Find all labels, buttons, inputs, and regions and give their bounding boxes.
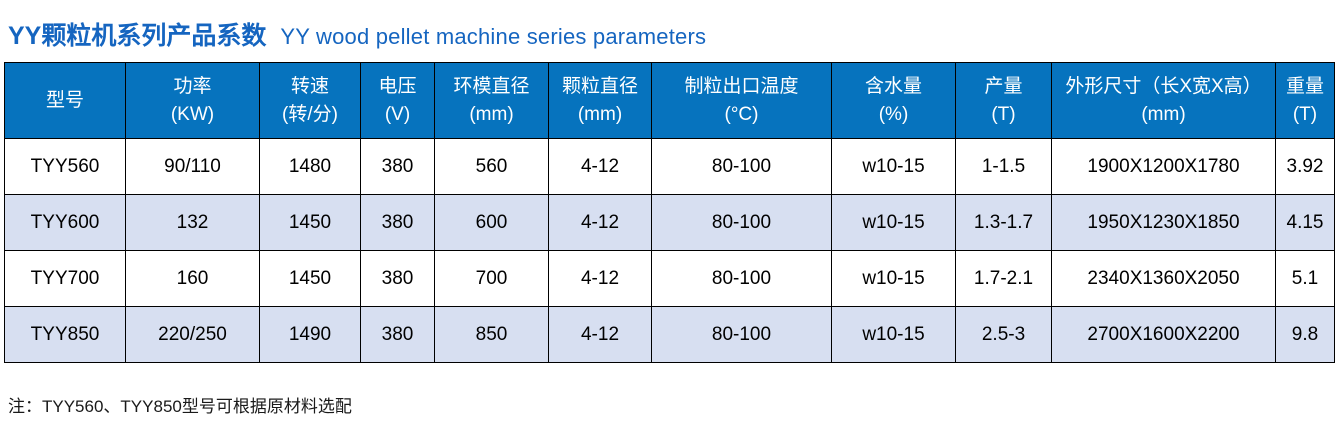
cell-weight: 9.8 — [1276, 307, 1335, 363]
cell-moisture: w10-15 — [832, 307, 956, 363]
cell-ring-die-diameter: 850 — [435, 307, 549, 363]
cell-pellet-diameter: 4-12 — [549, 195, 652, 251]
cell-outlet-temperature: 80-100 — [652, 307, 832, 363]
cell-capacity: 1.3-1.7 — [956, 195, 1052, 251]
cell-outlet-temperature: 80-100 — [652, 195, 832, 251]
column-header-outlet-temperature: 制粒出口温度 (°C) — [652, 63, 832, 139]
cell-capacity: 1-1.5 — [956, 139, 1052, 195]
column-header-voltage-label: 电压 — [363, 73, 432, 101]
cell-dimensions: 2700X1600X2200 — [1052, 307, 1276, 363]
cell-pellet-diameter: 4-12 — [549, 307, 652, 363]
column-header-moisture: 含水量 (%) — [832, 63, 956, 139]
cell-capacity: 2.5-3 — [956, 307, 1052, 363]
column-header-outlet-temperature-unit: (°C) — [654, 101, 829, 129]
column-header-weight-unit: (T) — [1278, 101, 1332, 129]
column-header-ring-die-diameter: 环模直径 (mm) — [435, 63, 549, 139]
cell-power: 132 — [126, 195, 260, 251]
table-row: TYY700 160 1450 380 700 4-12 80-100 w10-… — [5, 251, 1335, 307]
cell-model: TYY700 — [5, 251, 126, 307]
cell-weight: 4.15 — [1276, 195, 1335, 251]
column-header-dimensions: 外形尺寸（长X宽X高） (mm) — [1052, 63, 1276, 139]
cell-power: 160 — [126, 251, 260, 307]
specifications-table: 型号 功率 (KW) 转速 (转/分) 电压 (V) 环 — [4, 62, 1335, 363]
cell-moisture: w10-15 — [832, 139, 956, 195]
column-header-dimensions-label: 外形尺寸（长X宽X高） — [1054, 73, 1273, 101]
column-header-model-label: 型号 — [7, 87, 123, 115]
cell-voltage: 380 — [361, 251, 435, 307]
table-row: TYY850 220/250 1490 380 850 4-12 80-100 … — [5, 307, 1335, 363]
column-header-capacity-unit: (T) — [958, 101, 1049, 129]
cell-power: 220/250 — [126, 307, 260, 363]
cell-model: TYY560 — [5, 139, 126, 195]
cell-ring-die-diameter: 600 — [435, 195, 549, 251]
cell-moisture: w10-15 — [832, 195, 956, 251]
column-header-ring-die-diameter-label: 环模直径 — [437, 73, 546, 101]
page-title-english: YY wood pellet machine series parameters — [280, 24, 706, 50]
column-header-weight: 重量 (T) — [1276, 63, 1335, 139]
cell-ring-die-diameter: 700 — [435, 251, 549, 307]
column-header-speed: 转速 (转/分) — [260, 63, 361, 139]
column-header-capacity-label: 产量 — [958, 73, 1049, 101]
column-header-dimensions-unit: (mm) — [1054, 101, 1273, 129]
column-header-voltage: 电压 (V) — [361, 63, 435, 139]
column-header-pellet-diameter: 颗粒直径 (mm) — [549, 63, 652, 139]
cell-outlet-temperature: 80-100 — [652, 251, 832, 307]
cell-dimensions: 1900X1200X1780 — [1052, 139, 1276, 195]
cell-ring-die-diameter: 560 — [435, 139, 549, 195]
cell-voltage: 380 — [361, 139, 435, 195]
column-header-ring-die-diameter-unit: (mm) — [437, 101, 546, 129]
table-footnote: 注：TYY560、TYY850型号可根据原材料选配 — [8, 392, 352, 417]
cell-outlet-temperature: 80-100 — [652, 139, 832, 195]
column-header-power-unit: (KW) — [128, 101, 257, 129]
cell-dimensions: 2340X1360X2050 — [1052, 251, 1276, 307]
column-header-outlet-temperature-label: 制粒出口温度 — [654, 73, 829, 101]
cell-model: TYY600 — [5, 195, 126, 251]
column-header-power: 功率 (KW) — [126, 63, 260, 139]
column-header-moisture-unit: (%) — [834, 101, 953, 129]
column-header-speed-label: 转速 — [262, 73, 358, 101]
page-title-chinese: YY颗粒机系列产品系数 — [8, 16, 266, 52]
column-header-model: 型号 — [5, 63, 126, 139]
cell-voltage: 380 — [361, 307, 435, 363]
column-header-pellet-diameter-label: 颗粒直径 — [551, 73, 649, 101]
cell-power: 90/110 — [126, 139, 260, 195]
cell-weight: 5.1 — [1276, 251, 1335, 307]
cell-speed: 1450 — [260, 251, 361, 307]
page-title: YY颗粒机系列产品系数 YY wood pellet machine serie… — [8, 16, 706, 58]
table-row: TYY600 132 1450 380 600 4-12 80-100 w10-… — [5, 195, 1335, 251]
cell-speed: 1450 — [260, 195, 361, 251]
cell-voltage: 380 — [361, 195, 435, 251]
cell-pellet-diameter: 4-12 — [549, 251, 652, 307]
cell-speed: 1490 — [260, 307, 361, 363]
cell-model: TYY850 — [5, 307, 126, 363]
cell-capacity: 1.7-2.1 — [956, 251, 1052, 307]
cell-dimensions: 1950X1230X1850 — [1052, 195, 1276, 251]
table-header-row: 型号 功率 (KW) 转速 (转/分) 电压 (V) 环 — [5, 63, 1335, 139]
cell-speed: 1480 — [260, 139, 361, 195]
cell-pellet-diameter: 4-12 — [549, 139, 652, 195]
specifications-table-wrapper: 型号 功率 (KW) 转速 (转/分) 电压 (V) 环 — [4, 62, 1334, 363]
column-header-pellet-diameter-unit: (mm) — [551, 101, 649, 129]
column-header-capacity: 产量 (T) — [956, 63, 1052, 139]
cell-weight: 3.92 — [1276, 139, 1335, 195]
column-header-voltage-unit: (V) — [363, 101, 432, 129]
column-header-speed-unit: (转/分) — [262, 101, 358, 129]
column-header-weight-label: 重量 — [1278, 73, 1332, 101]
spec-sheet-page: YY颗粒机系列产品系数 YY wood pellet machine serie… — [0, 0, 1338, 442]
column-header-moisture-label: 含水量 — [834, 73, 953, 101]
column-header-power-label: 功率 — [128, 73, 257, 101]
cell-moisture: w10-15 — [832, 251, 956, 307]
table-row: TYY560 90/110 1480 380 560 4-12 80-100 w… — [5, 139, 1335, 195]
